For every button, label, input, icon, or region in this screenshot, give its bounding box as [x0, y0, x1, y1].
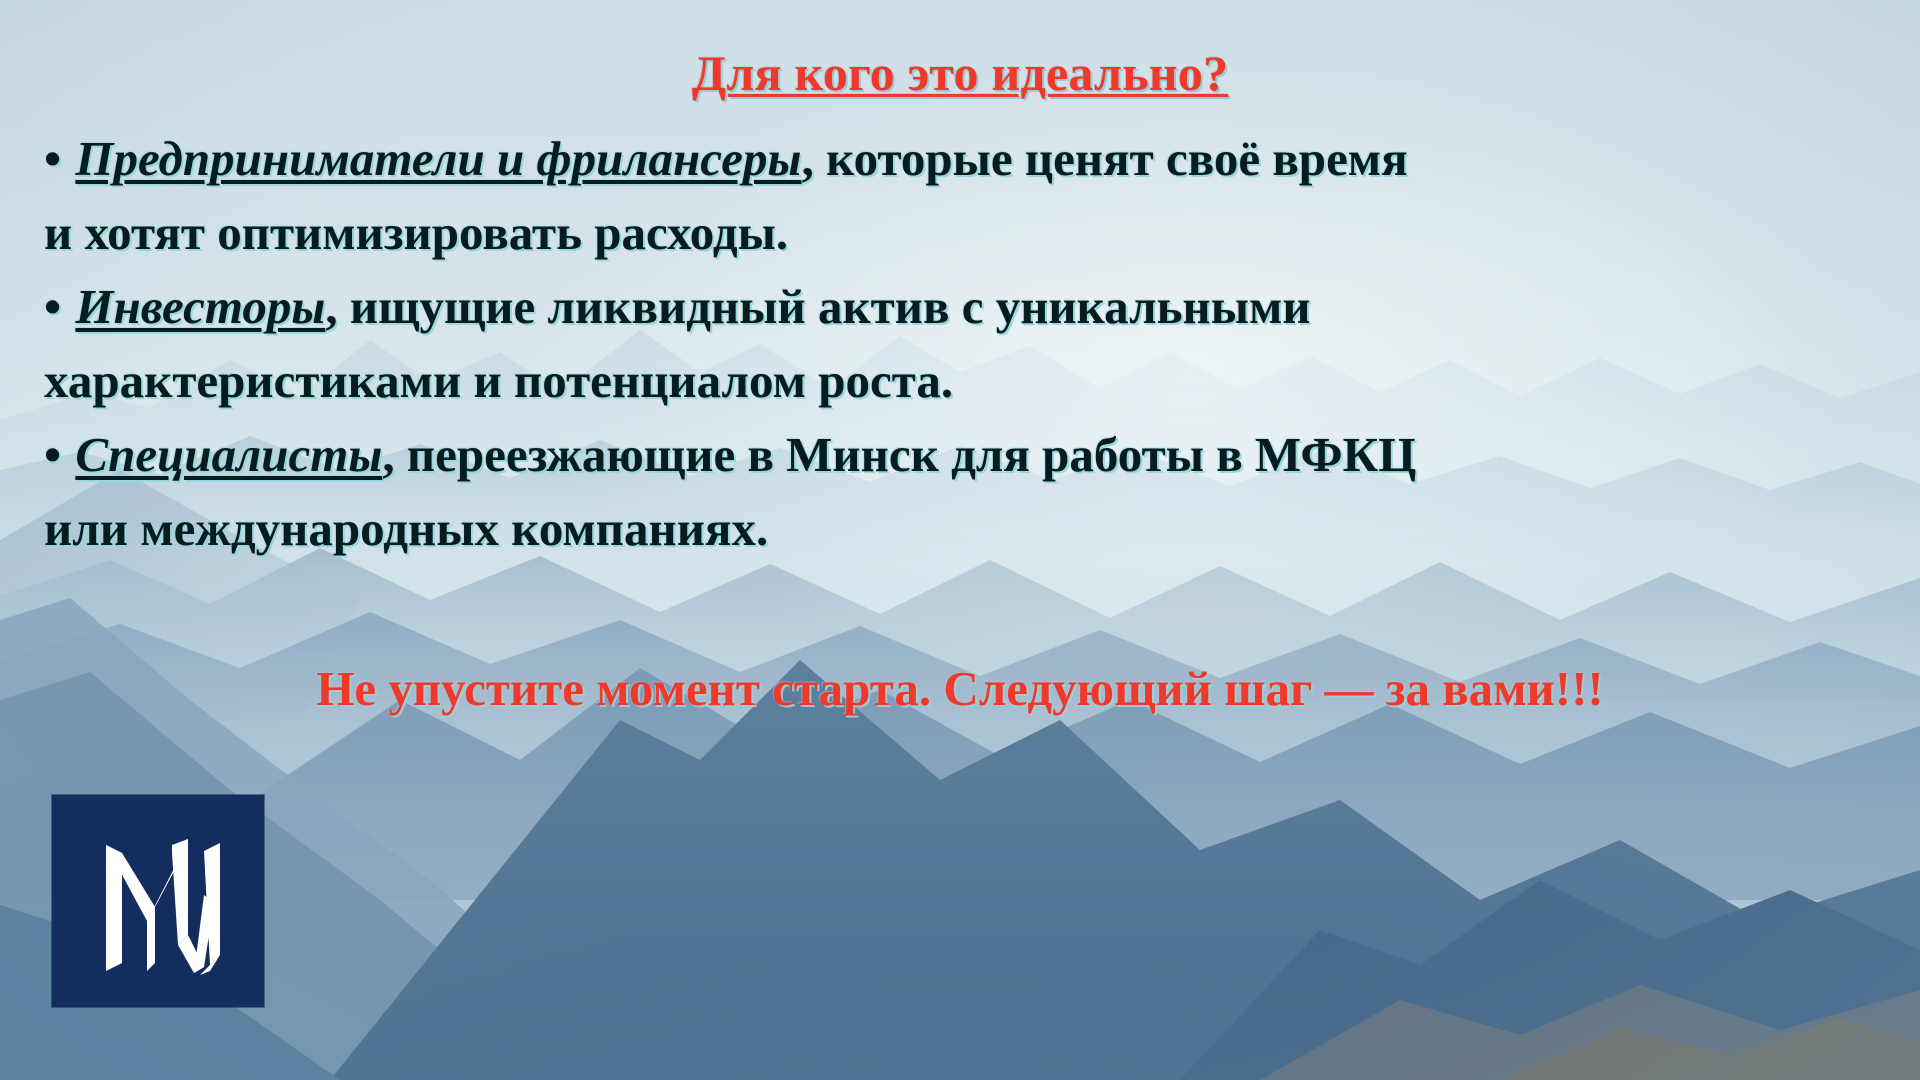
slide-content: Для кого это идеально? • Предприниматели… [0, 0, 1920, 1080]
list-item-continuation: и хотят оптимизировать расходы. [44, 196, 1886, 270]
bullet-rest: , ищущие ликвидный актив с уникальными [325, 279, 1310, 334]
bullet-term: Инвесторы [75, 279, 325, 334]
bullet-continuation: и хотят оптимизировать расходы. [44, 205, 788, 260]
list-item-continuation: характеристиками и потенциалом роста. [44, 344, 1886, 418]
bullet-marker: • [44, 279, 63, 334]
list-item: • Специалисты, переезжающие в Минск для … [44, 418, 1886, 492]
bullet-rest: , переезжающие в Минск для работы в МФКЦ [382, 427, 1416, 482]
mw-monogram-logo[interactable] [52, 795, 264, 1007]
mw-monogram-icon [52, 795, 264, 1007]
call-to-action-text: Не упустите момент старта. Следующий шаг… [0, 660, 1920, 717]
bullet-term: Предприниматели и фрилансеры [75, 131, 801, 186]
list-item: • Инвесторы, ищущие ликвидный актив с ун… [44, 270, 1886, 344]
bullet-continuation: характеристиками и потенциалом роста. [44, 353, 953, 408]
list-item-continuation: или международных компаниях. [44, 492, 1886, 566]
slide-headline: Для кого это идеально? [0, 44, 1920, 102]
bullet-term: Специалисты [75, 427, 382, 482]
bullet-marker: • [44, 427, 63, 482]
bullet-list: • Предприниматели и фрилансеры, которые … [44, 122, 1886, 566]
list-item: • Предприниматели и фрилансеры, которые … [44, 122, 1886, 196]
bullet-continuation: или международных компаниях. [44, 501, 768, 556]
slide-canvas: Для кого это идеально? • Предприниматели… [0, 0, 1920, 1080]
bullet-marker: • [44, 131, 63, 186]
bullet-rest: , которые ценят своё время [802, 131, 1408, 186]
